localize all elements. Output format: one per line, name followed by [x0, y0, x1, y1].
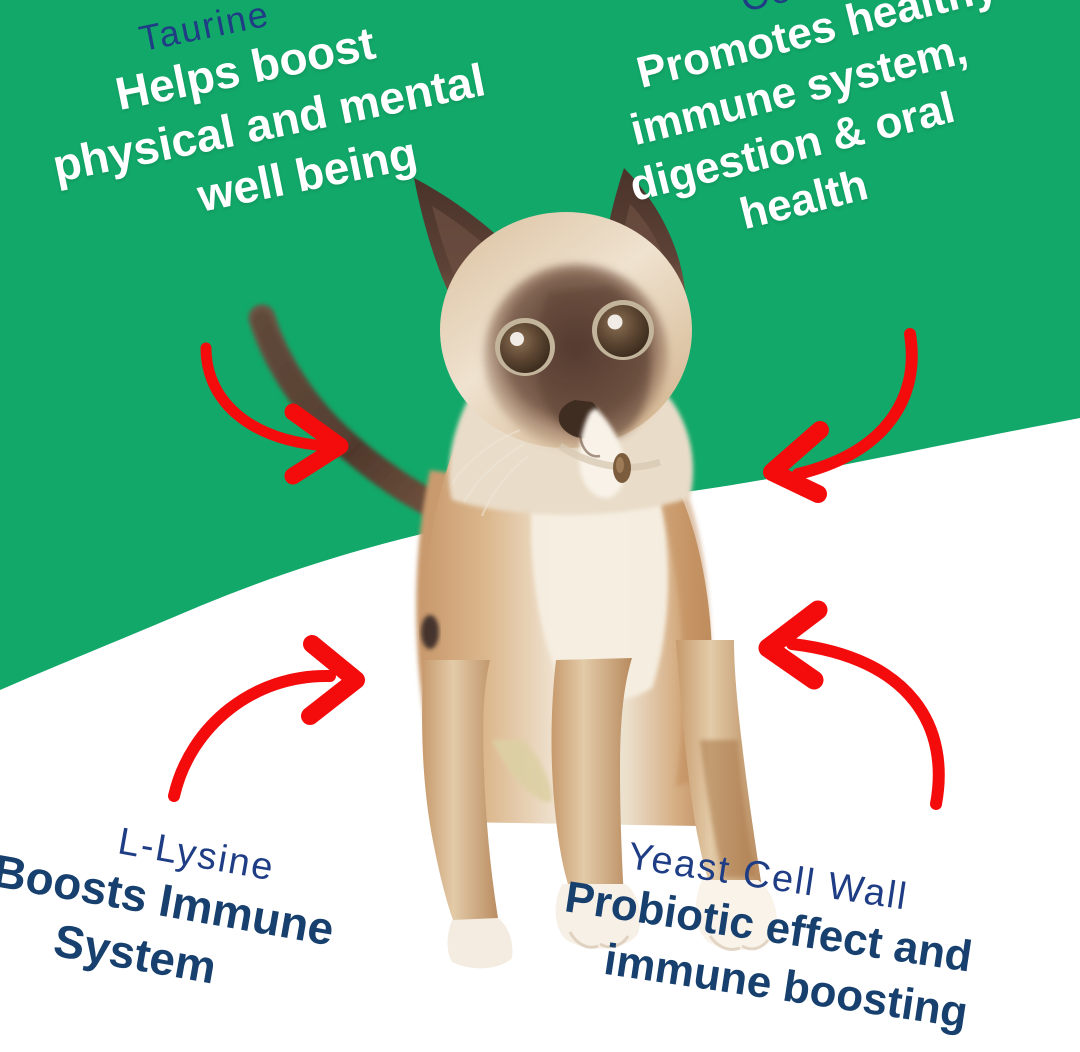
curved-arrow-right-icon [190, 336, 390, 486]
curved-arrow-left-icon [752, 326, 942, 496]
curved-arrow-left-icon [744, 608, 964, 808]
curved-arrow-right-icon [160, 640, 380, 800]
infographic-canvas: Taurine Helps boost physical and mental … [0, 0, 1080, 1052]
